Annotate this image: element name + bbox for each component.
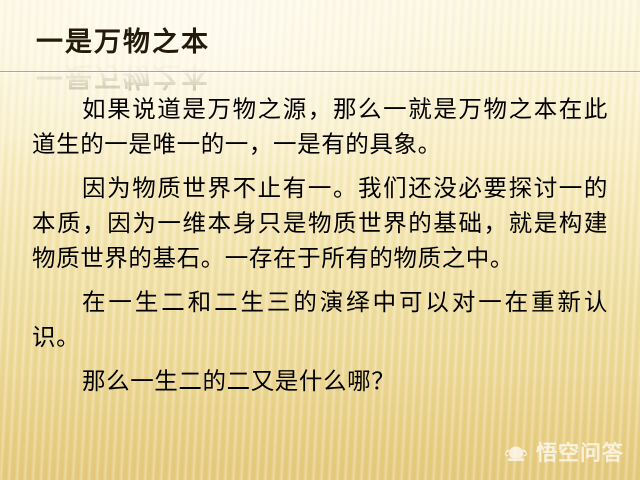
slide-title-block: 一是万物之本 一是万物之本 [36, 26, 456, 96]
slide-title-reflection-text: 一是万物之本 [36, 62, 210, 92]
title-divider-line [0, 71, 640, 72]
body-paragraph: 如果说道是万物之源，那么一就是万物之本在此道生的一是唯一的一，一是有的具象。 [32, 92, 608, 162]
slide-title: 一是万物之本 [36, 26, 456, 60]
monkey-king-headband-icon [503, 444, 529, 464]
watermark-label: 悟空问答 [536, 443, 624, 464]
body-paragraph: 因为物质世界不止有一。我们还没必要探讨一的本质，因为一维本身只是物质世界的基础，… [32, 171, 608, 276]
body-paragraph: 在一生二和二生三的演绎中可以对一在重新认识。 [32, 285, 608, 355]
slide-canvas: 一是万物之本 一是万物之本 如果说道是万物之源，那么一就是万物之本在此道生的一是… [0, 0, 640, 480]
slide-title-reflection: 一是万物之本 [36, 62, 456, 92]
body-paragraph: 那么一生二的二又是什么哪？ [32, 364, 608, 399]
paragraph-spacer [32, 276, 608, 285]
paragraph-spacer [32, 355, 608, 364]
slide-body: 如果说道是万物之源，那么一就是万物之本在此道生的一是唯一的一，一是有的具象。 因… [32, 92, 608, 399]
paragraph-spacer [32, 162, 608, 171]
watermark: 悟空问答 [503, 443, 624, 464]
